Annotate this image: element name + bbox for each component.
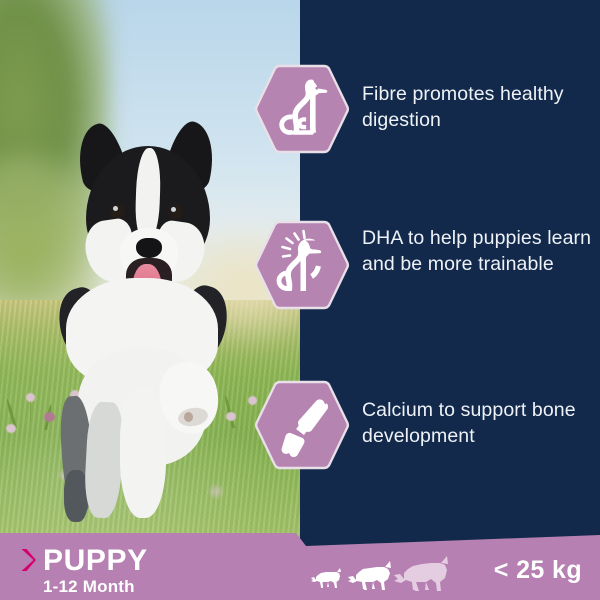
dog-size-scale [308, 556, 468, 596]
puppy-figure [38, 112, 238, 532]
puppy-paw-toe [184, 412, 193, 422]
lifestage-banner: PUPPY 1-12 Month [0, 520, 600, 600]
pack-panel: Fibre promotes healthy digestion [0, 0, 600, 600]
chevron-right-icon [20, 548, 37, 577]
weight-range-label: < 25 kg [494, 556, 582, 585]
flower-stem [30, 400, 31, 422]
puppy-eye-left [110, 204, 125, 218]
feature-text-calcium: Calcium to support bone development [362, 398, 600, 449]
bone-joint-icon [254, 378, 350, 474]
puppy-eye-right [168, 205, 183, 219]
feature-text-fibre: Fibre promotes healthy digestion [362, 82, 600, 133]
puppy-leg-mid [83, 401, 125, 519]
feature-text-dha: DHA to help puppies learn and be more tr… [362, 226, 600, 277]
sitting-dog-digestion-icon [254, 62, 350, 158]
dog-size-large-icon [394, 556, 448, 591]
dog-size-medium-icon [348, 561, 391, 590]
puppy-leg-front [120, 388, 166, 518]
dog-size-small-icon [311, 568, 341, 588]
lifestage-title: PUPPY [43, 544, 148, 578]
sitting-dog-brain-idea-icon [254, 218, 350, 314]
lifestage-subtitle: 1-12 Month [43, 577, 135, 597]
puppy-nose [136, 238, 162, 258]
clover-flower [26, 393, 35, 402]
clover-flower [6, 424, 16, 433]
